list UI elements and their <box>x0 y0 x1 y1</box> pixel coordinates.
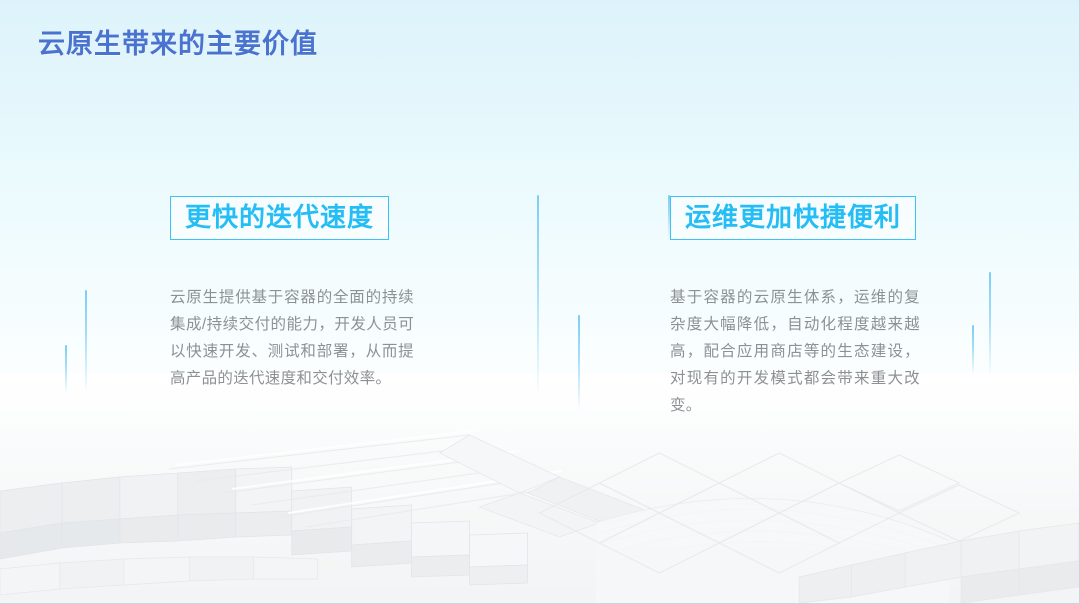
accent-line-center-tall <box>537 195 539 395</box>
accent-line-left <box>85 290 87 393</box>
value-heading-left: 更快的迭代速度 <box>170 196 389 240</box>
value-body-right: 基于容器的云原生体系，运维的复杂度大幅降低，自动化程度越来越高，配合应用商店等的… <box>670 284 920 419</box>
value-body-left: 云原生提供基于容器的全面的持续集成/持续交付的能力，开发人员可以快速开发、测试和… <box>170 284 414 392</box>
page-title: 云原生带来的主要价值 <box>38 22 318 61</box>
value-column-left: 更快的迭代速度 云原生提供基于容器的全面的持续集成/持续交付的能力，开发人员可以… <box>170 196 470 392</box>
accent-line-far-left-short <box>65 345 67 393</box>
accent-line-far-right-short <box>972 325 974 375</box>
value-heading-right: 运维更加快捷便利 <box>670 196 916 240</box>
accent-line-center-short <box>578 315 580 411</box>
accent-line-far-right <box>989 272 991 376</box>
slide-canvas: 云原生带来的主要价值 更快的迭代速度 云原生提供基于容器的全面的持续集成/持续交… <box>0 0 1080 604</box>
value-column-right: 运维更加快捷便利 基于容器的云原生体系，运维的复杂度大幅降低，自动化程度越来越高… <box>670 196 970 419</box>
